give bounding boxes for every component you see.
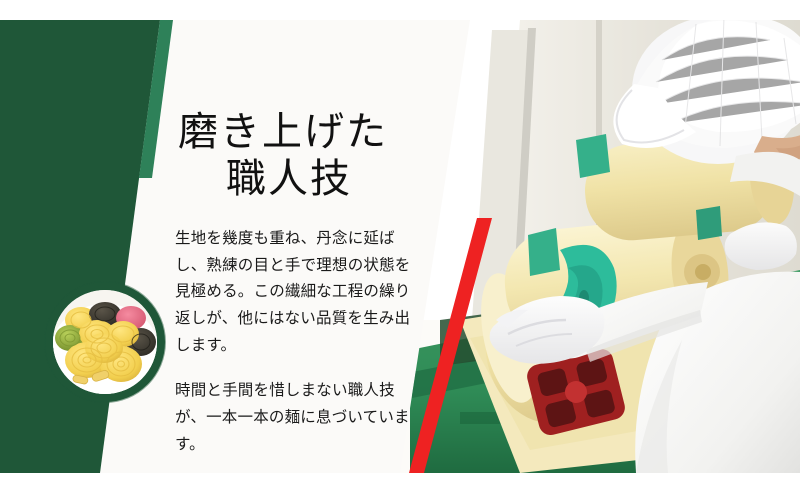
body-copy: 生地を幾度も重ね、丹念に延ばし、熟練の目と手で理想の状態を見極める。この繊細な工… — [175, 226, 415, 458]
pasta-assortment-icon — [53, 290, 157, 394]
body-paragraph-2: 時間と手間を惜しまない職人技が、一本一本の麺に息づいています。 — [175, 378, 415, 458]
page-title-line2: 職人技 — [178, 156, 478, 203]
page-title-line1: 磨き上げた — [178, 109, 478, 156]
body-paragraph-1: 生地を幾度も重ね、丹念に延ばし、熟練の目と手で理想の状態を見極める。この繊細な工… — [175, 226, 415, 359]
slide-canvas: 磨き上げた 職人技 生地を幾度も重ね、丹念に延ばし、熟練の目と手で理想の状態を見… — [0, 0, 800, 495]
pasta-badge-photo — [53, 290, 157, 394]
content-band: 磨き上げた 職人技 生地を幾度も重ね、丹念に延ばし、熟練の目と手で理想の状態を見… — [0, 20, 800, 473]
green-panel-shape — [0, 20, 200, 473]
pasta-badge — [45, 282, 165, 402]
factory-photo-image — [400, 20, 800, 473]
page-title: 磨き上げた 職人技 — [178, 109, 478, 203]
